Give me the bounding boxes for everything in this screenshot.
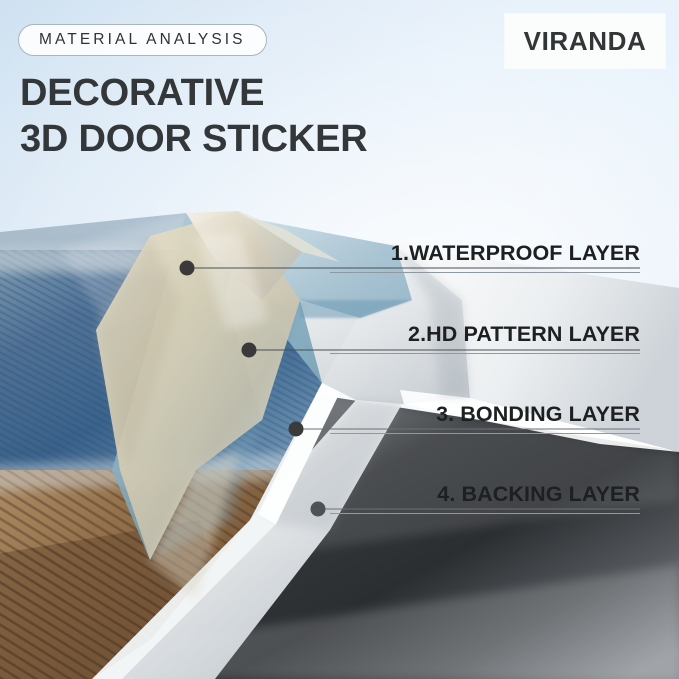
material-analysis-infographic: MATERIAL ANALYSIS DECORATIVE 3D DOOR STI… [0, 0, 679, 679]
callout-label-2: 2.HD PATTERN LAYER [330, 324, 640, 346]
callout-label-3: 3. BONDING LAYER [330, 404, 640, 426]
brand-name: VIRANDA [524, 26, 647, 57]
callout-label-4: 4. BACKING LAYER [330, 484, 640, 506]
callout-label-1: 1.WATERPROOF LAYER [330, 243, 640, 265]
callout-hd-pattern-layer: 2.HD PATTERN LAYER [330, 324, 640, 354]
page-title-line-1: DECORATIVE [20, 74, 264, 112]
callout-rule-2 [330, 353, 640, 354]
callout-rule-1 [330, 272, 640, 273]
callout-waterproof-layer: 1.WATERPROOF LAYER [330, 243, 640, 273]
callout-rule-3 [330, 433, 640, 434]
callout-bonding-layer: 3. BONDING LAYER [330, 404, 640, 434]
callout-dot-1 [180, 261, 195, 276]
callout-rule-4 [330, 513, 640, 514]
callout-dot-3 [289, 422, 304, 437]
callout-dot-4 [311, 502, 326, 517]
badge-label: MATERIAL ANALYSIS [39, 31, 246, 49]
brand-logo: VIRANDA [505, 14, 665, 68]
callout-backing-layer: 4. BACKING LAYER [330, 484, 640, 514]
material-analysis-badge: MATERIAL ANALYSIS [18, 24, 267, 56]
callout-dot-2 [242, 343, 257, 358]
page-title-line-2: 3D DOOR STICKER [20, 120, 367, 158]
